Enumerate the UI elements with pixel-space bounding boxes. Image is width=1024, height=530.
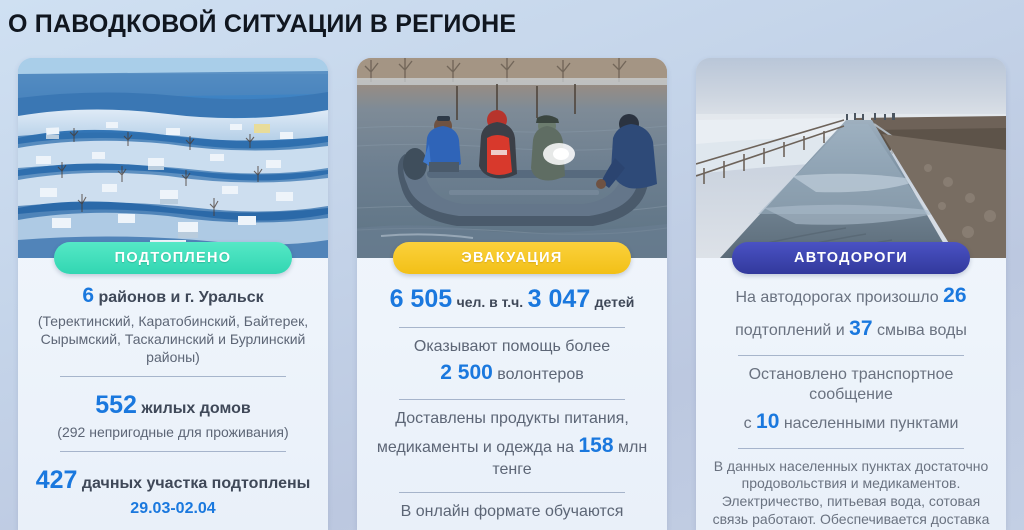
card-roads: АВТОДОРОГИ На автодорогах произошло 26 п… (696, 58, 1006, 530)
stat-districts-number: 6 (82, 284, 94, 307)
stat-transport-stopped-label: населенными пунктами (784, 415, 959, 432)
stat-supply-note: В данных населенных пунктах достаточно п… (708, 458, 994, 530)
slide-root: О ПАВОДКОВОЙ СИТУАЦИИ В РЕГИОНЕ (0, 0, 1024, 530)
stat-road-incidents-number: 26 (943, 284, 966, 307)
stat-dachas-number: 427 (36, 466, 78, 494)
stat-volunteers-number: 2 500 (440, 361, 493, 384)
badge-flooded: ПОДТОПЛЕНО (54, 242, 292, 274)
card-evacuation: ЭВАКУАЦИЯ 6 505 чел. в т.ч. 3 047 детей … (357, 58, 667, 530)
stat-evacuated-label: чел. в т.ч. (457, 294, 524, 310)
card-evacuation-body: 6 505 чел. в т.ч. 3 047 детей Оказывают … (357, 272, 667, 530)
stat-road-incidents-lead: На автодорогах произошло (735, 289, 938, 306)
divider (399, 492, 625, 493)
aerial-flooded-village-photo (18, 58, 328, 258)
cards-row: ПОДТОПЛЕНО 6 районов и г. Уральск (Терек… (0, 58, 1024, 530)
stat-online-study: В онлайн формате обучаются 4 809 учащихс… (369, 502, 655, 530)
card-roads-body: На автодорогах произошло 26 подтоплений … (696, 272, 1006, 530)
stat-houses-number: 552 (95, 391, 137, 419)
stat-districts-note: (Теректинский, Каратобинский, Байтерек, … (30, 313, 316, 367)
stat-transport-stopped: Остановлено транспортное сообщение с 10 … (708, 365, 994, 439)
stat-road-washouts-number: 37 (849, 317, 872, 340)
badge-roads: АВТОДОРОГИ (732, 242, 970, 274)
card-flooded-body: 6 районов и г. Уральск (Теректинский, Ка… (18, 272, 328, 530)
stat-evacuated: 6 505 чел. в т.ч. 3 047 детей (369, 280, 655, 318)
divider (60, 376, 286, 377)
stat-online-study-number: 4 809 (412, 527, 465, 530)
flooded-highway-photo (696, 58, 1006, 258)
card-flooded: ПОДТОПЛЕНО 6 районов и г. Уральск (Терек… (18, 58, 328, 530)
divider (399, 327, 625, 328)
stat-houses: 552 жилых домов (292 непригодные для про… (30, 386, 316, 442)
divider (738, 355, 964, 356)
stat-evacuated-number: 6 505 (390, 285, 453, 313)
stat-road-incidents-lead2: подтоплений и (735, 322, 845, 339)
stat-online-study-schools-number: 14 (546, 527, 569, 530)
stat-evacuated-children-number: 3 047 (528, 285, 591, 313)
stat-dachas-date: 29.03-02.04 (30, 499, 316, 519)
stat-volunteers: Оказывают помощь более 2 500 волонтеров (369, 337, 655, 390)
stat-dachas: 427 дачных участка подтоплены 29.03-02.0… (30, 461, 316, 519)
badge-evacuation: ЭВАКУАЦИЯ (393, 242, 631, 274)
stat-volunteers-label: волонтеров (497, 366, 583, 383)
stat-supplies: Доставлены продукты питания, медикаменты… (369, 409, 655, 483)
rescue-boat-evacuation-photo (357, 58, 667, 258)
stat-volunteers-lead: Оказывают помощь более (369, 337, 655, 357)
stat-transport-stopped-number: 10 (756, 410, 779, 433)
stat-online-study-lead: В онлайн формате обучаются (369, 502, 655, 522)
divider (738, 448, 964, 449)
stat-districts: 6 районов и г. Уральск (Теректинский, Ка… (30, 280, 316, 367)
stat-dachas-label: дачных участка подтоплены (82, 475, 310, 492)
stat-evacuated-children-label: детей (595, 294, 635, 310)
stat-road-incidents: На автодорогах произошло 26 подтоплений … (708, 280, 994, 346)
stat-supplies-lead2: медикаменты и одежда на (377, 439, 574, 456)
stat-road-washouts-label: смыва воды (877, 322, 967, 339)
stat-transport-stopped-prefix: с (744, 415, 752, 432)
page-title: О ПАВОДКОВОЙ СИТУАЦИИ В РЕГИОНЕ (8, 10, 516, 39)
divider (60, 451, 286, 452)
stat-transport-stopped-lead: Остановлено транспортное сообщение (708, 365, 994, 406)
stat-supplies-number: 158 (578, 434, 613, 457)
stat-houses-note: (292 непригодные для проживания) (30, 424, 316, 442)
divider (399, 399, 625, 400)
stat-supplies-lead: Доставлены продукты питания, (369, 409, 655, 429)
stat-districts-label: районов и г. Уральск (98, 289, 263, 306)
stat-houses-label: жилых домов (141, 400, 250, 417)
